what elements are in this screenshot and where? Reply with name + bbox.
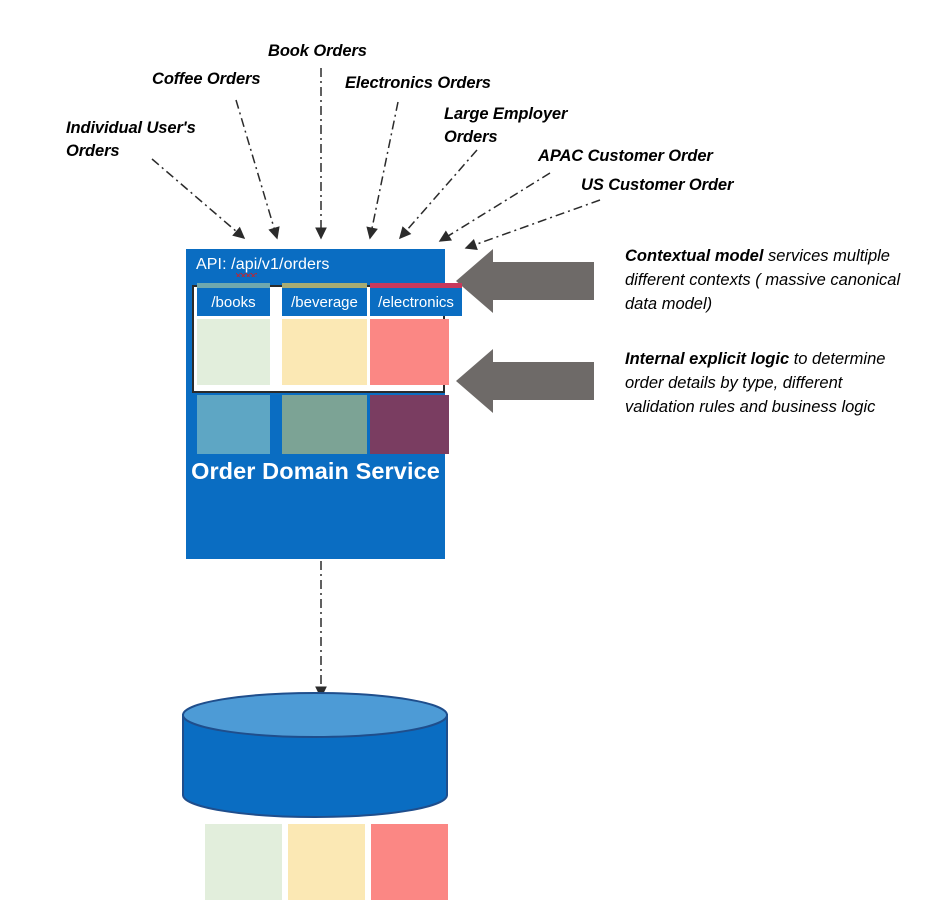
- connector-us-customer-order: [466, 200, 600, 248]
- api-endpoint-label: API: /api/v1/orders: [196, 256, 330, 274]
- model-tile-beverage: [282, 319, 367, 385]
- label-apac-customer-order: APAC Customer Order: [538, 145, 713, 168]
- endpoint-tab-beverage[interactable]: /beverage: [282, 288, 367, 316]
- database-cylinder: [183, 693, 447, 817]
- label-large-employer-orders: Large Employer Orders: [444, 103, 567, 150]
- endpoint-tab-electronics[interactable]: /electronics: [370, 288, 462, 316]
- logic-tile-books: [197, 395, 270, 454]
- order-domain-service-box[interactable]: API: /api/v1/orders /books /beverage /el…: [186, 249, 445, 559]
- model-tile-electronics: [370, 319, 449, 385]
- label-book-orders: Book Orders: [268, 40, 367, 63]
- api-prefix-text: API: /: [196, 256, 236, 273]
- connector-coffee-orders: [236, 100, 277, 238]
- endpoint-tab-books[interactable]: /books: [197, 288, 270, 316]
- callout-internal-explicit-logic-bold: Internal explicit logic: [625, 350, 789, 368]
- label-us-customer-order: US Customer Order: [581, 174, 733, 197]
- callout-contextual-model: Contextual model services multiple diffe…: [625, 245, 915, 317]
- model-tile-books: [197, 319, 270, 385]
- api-suffix-text: /v1/orders: [257, 256, 329, 273]
- storage-tile-electronics: [371, 824, 448, 900]
- api-misspelled-word: api: [236, 256, 258, 274]
- label-individual-user-orders: Individual User's Orders: [66, 117, 196, 164]
- label-coffee-orders: Coffee Orders: [152, 68, 260, 91]
- connector-apac-customer-order: [440, 173, 550, 241]
- storage-tile-beverage: [288, 824, 365, 900]
- logic-tile-beverage: [282, 395, 367, 454]
- block-arrow-contextual-model: [456, 249, 594, 313]
- callout-internal-explicit-logic: Internal explicit logic to determine ord…: [625, 348, 915, 420]
- block-arrow-internal-explicit-logic: [456, 349, 594, 413]
- diagram-canvas: Individual User's Orders Coffee Orders B…: [0, 0, 942, 914]
- storage-tile-books: [205, 824, 282, 900]
- callout-contextual-model-bold: Contextual model: [625, 247, 763, 265]
- label-electronics-orders: Electronics Orders: [345, 72, 491, 95]
- connector-individual-user-orders: [152, 159, 244, 238]
- connector-large-employer-orders: [400, 150, 477, 238]
- service-title: Order Domain Service: [186, 458, 445, 485]
- logic-tile-electronics: [370, 395, 449, 454]
- connector-electronics-orders: [370, 102, 398, 238]
